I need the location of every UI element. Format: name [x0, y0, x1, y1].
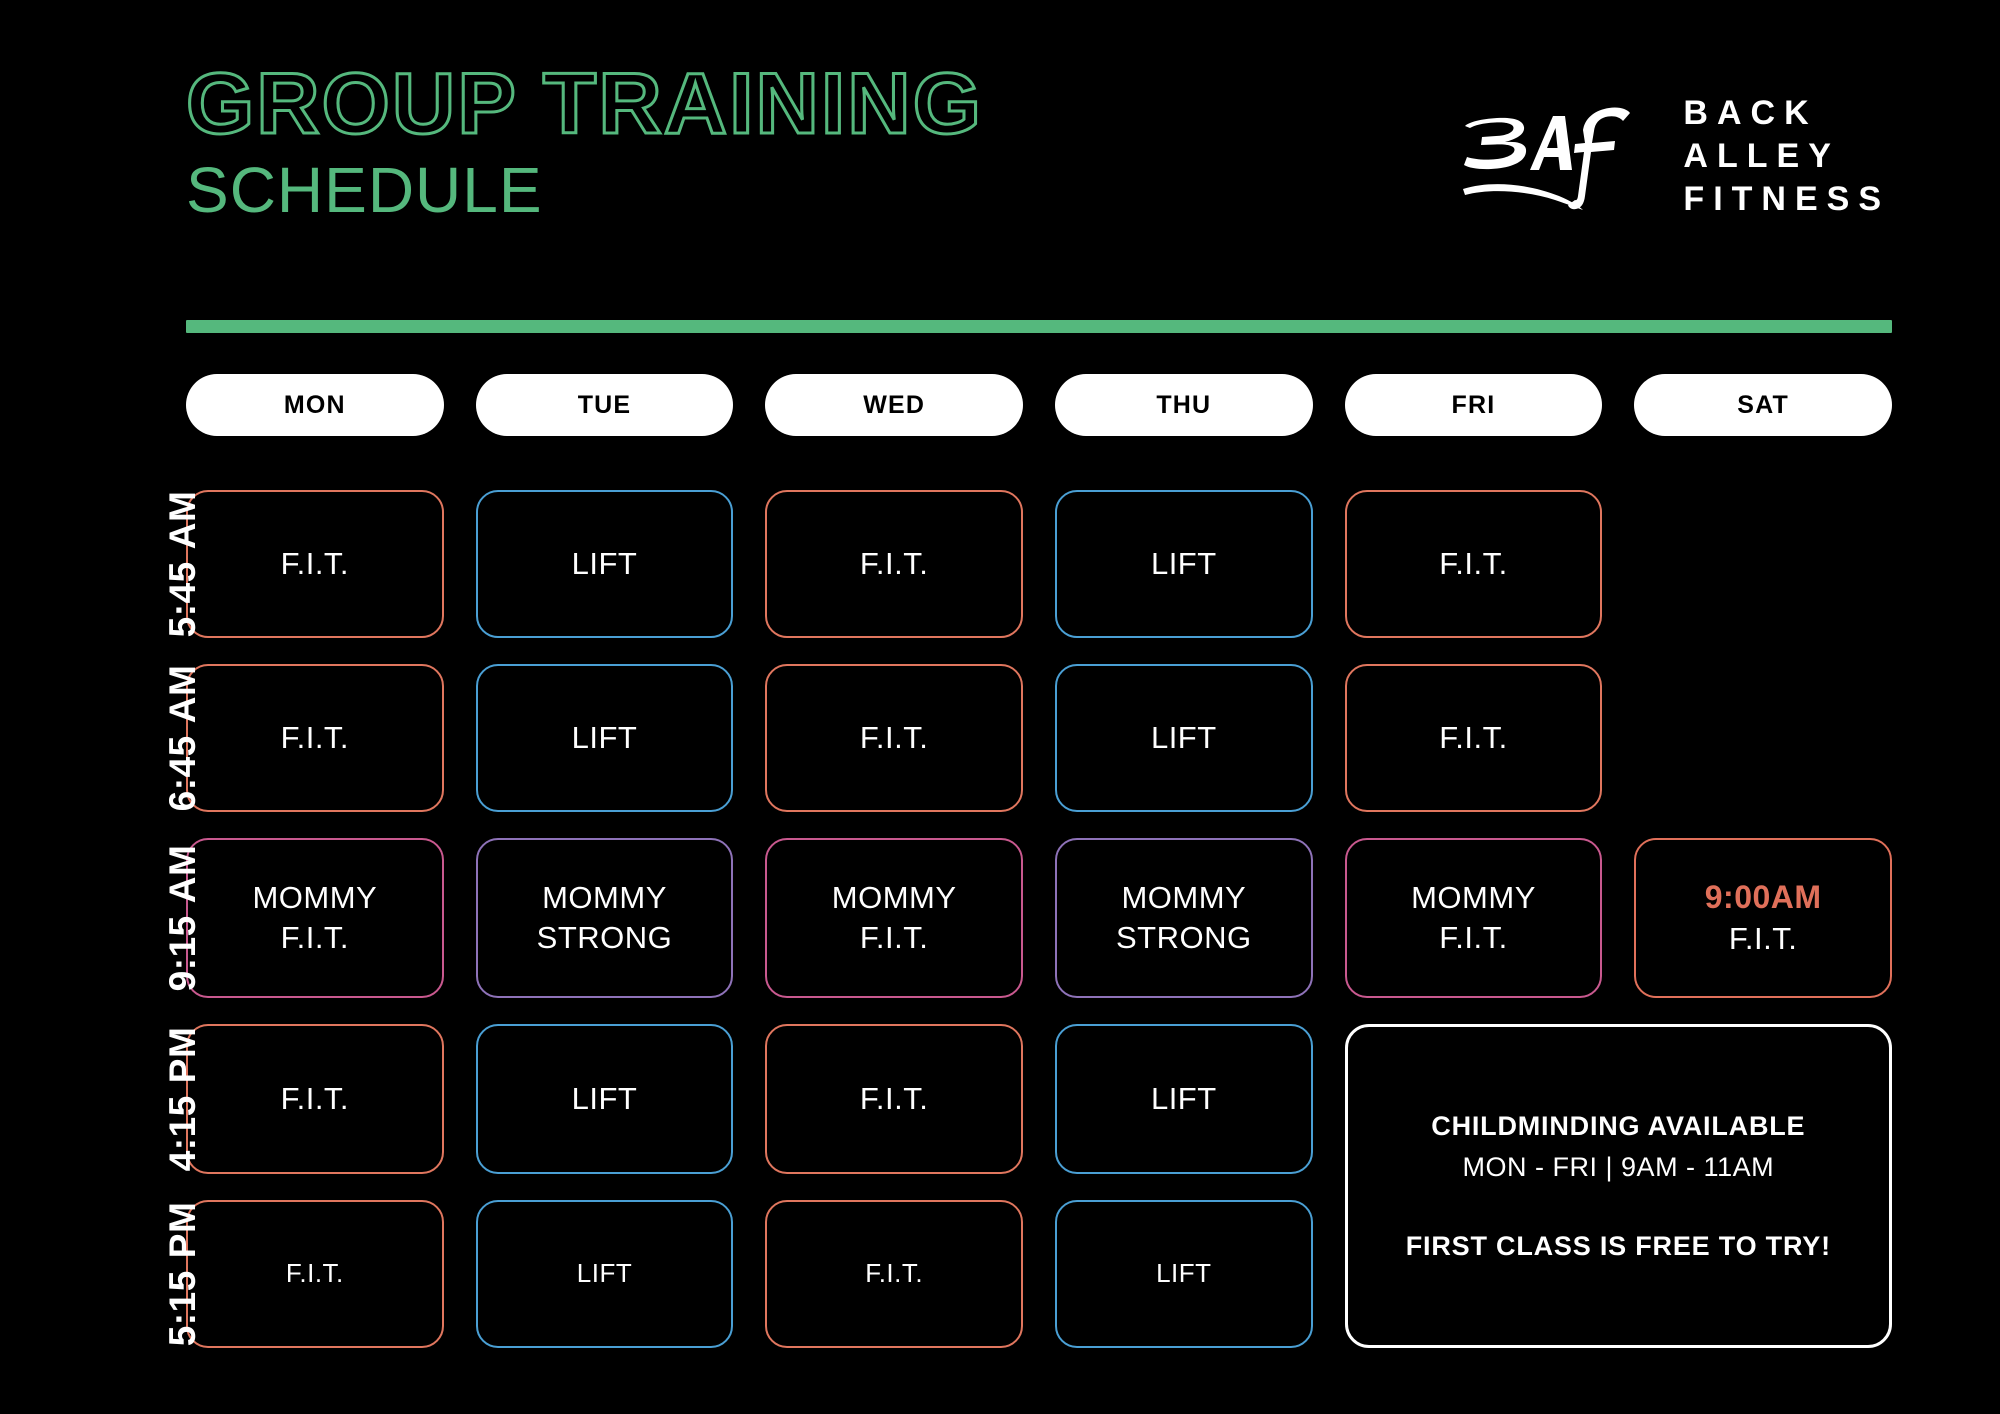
- schedule-row-0: F.I.T.LIFTF.I.T.LIFTF.I.T.: [186, 490, 1892, 638]
- page-subtitle: SCHEDULE: [186, 158, 967, 222]
- childminding-heading: CHILDMINDING AVAILABLE: [1431, 1111, 1805, 1142]
- day-header-wed[interactable]: WED: [765, 374, 1023, 436]
- class-card-lift[interactable]: LIFT: [476, 1024, 734, 1174]
- class-label-line1: F.I.T.: [860, 1079, 928, 1119]
- time-label-3: 4:15PM: [108, 1024, 258, 1174]
- class-label-line1: LIFT: [577, 1257, 632, 1291]
- brand-line-3: FITNESS: [1683, 182, 1890, 216]
- time-period: PM: [163, 1027, 202, 1084]
- class-card-lift[interactable]: LIFT: [476, 1200, 734, 1348]
- childminding-hours: MON - FRI | 9AM - 11AM: [1463, 1152, 1775, 1183]
- time-label-4: 5:15PM: [109, 1199, 257, 1349]
- time-value: 5:45: [163, 561, 202, 637]
- schedule-grid: MONTUEWEDTHUFRISAT F.I.T.LIFTF.I.T.LIFTF…: [186, 374, 1892, 1348]
- first-class-free-note: FIRST CLASS IS FREE TO TRY!: [1406, 1231, 1831, 1262]
- baf-brush-logo-icon: [1455, 96, 1655, 216]
- class-card-sat_fit[interactable]: 9:00AMF.I.T.: [1634, 838, 1892, 998]
- time-value: 5:15: [163, 1270, 202, 1346]
- class-label-line1: MOMMY: [542, 878, 667, 918]
- class-label-line1: F.I.T.: [286, 1257, 344, 1291]
- accent-divider: [186, 320, 1892, 333]
- class-card-empty: [1634, 490, 1892, 638]
- schedule-body: F.I.T.LIFTF.I.T.LIFTF.I.T.F.I.T.LIFTF.I.…: [186, 490, 1892, 1348]
- class-label-line1: F.I.T.: [860, 544, 928, 584]
- day-header-row: MONTUEWEDTHUFRISAT: [186, 374, 1892, 436]
- time-label-0: 5:45AM: [109, 489, 257, 639]
- brand-logo: BACK ALLEY FITNESS: [1455, 96, 1890, 216]
- class-card-fit[interactable]: F.I.T.: [765, 1024, 1023, 1174]
- class-label-line1: F.I.T.: [281, 544, 349, 584]
- class-label-line2: F.I.T.: [281, 918, 349, 958]
- title-block: GROUP TRAINING SCHEDULE: [186, 62, 967, 222]
- class-label-line1: LIFT: [572, 1079, 638, 1119]
- class-time-highlight: 9:00AM: [1705, 877, 1822, 919]
- class-card-fit[interactable]: F.I.T.: [765, 490, 1023, 638]
- brand-line-2: ALLEY: [1683, 139, 1890, 173]
- class-label-line2: F.I.T.: [1439, 918, 1507, 958]
- class-label-line1: F.I.T.: [865, 1257, 923, 1291]
- class-label-line1: LIFT: [1151, 544, 1217, 584]
- class-label-line1: F.I.T.: [1439, 544, 1507, 584]
- day-header-thu[interactable]: THU: [1055, 374, 1313, 436]
- class-card-lift[interactable]: LIFT: [1055, 664, 1313, 812]
- class-card-fit[interactable]: F.I.T.: [1345, 490, 1603, 638]
- time-value: 9:15: [163, 915, 202, 991]
- time-period: AM: [163, 491, 202, 550]
- class-card-lift[interactable]: LIFT: [1055, 1024, 1313, 1174]
- time-value: 6:45: [163, 735, 202, 811]
- class-label-line1: MOMMY: [832, 878, 957, 918]
- class-label-line1: F.I.T.: [281, 718, 349, 758]
- class-label-line2: STRONG: [537, 918, 673, 958]
- class-card-fit[interactable]: F.I.T.: [765, 664, 1023, 812]
- day-header-tue[interactable]: TUE: [476, 374, 734, 436]
- time-period: AM: [163, 665, 202, 724]
- class-card-mommy_fit[interactable]: MOMMYF.I.T.: [1345, 838, 1603, 998]
- class-card-mommy_strong[interactable]: MOMMYSTRONG: [476, 838, 734, 998]
- class-card-fit[interactable]: F.I.T.: [1345, 664, 1603, 812]
- class-label-line1: F.I.T.: [1439, 718, 1507, 758]
- time-period: PM: [163, 1202, 202, 1259]
- class-label-line1: F.I.T.: [281, 1079, 349, 1119]
- day-header-fri[interactable]: FRI: [1345, 374, 1603, 436]
- day-header-mon[interactable]: MON: [186, 374, 444, 436]
- brand-wordmark: BACK ALLEY FITNESS: [1683, 96, 1890, 216]
- page-header: GROUP TRAINING SCHEDULE BACK ALLEY FITNE…: [0, 0, 2000, 300]
- childminding-info-box: CHILDMINDING AVAILABLEMON - FRI | 9AM - …: [1345, 1024, 1892, 1348]
- page-title: GROUP TRAINING: [186, 62, 983, 146]
- class-label-line2: F.I.T.: [860, 918, 928, 958]
- time-label-2: 9:15AM: [103, 843, 263, 993]
- class-card-mommy_fit[interactable]: MOMMYF.I.T.: [765, 838, 1023, 998]
- time-period: AM: [163, 845, 202, 904]
- class-label-line1: F.I.T.: [860, 718, 928, 758]
- class-card-fit[interactable]: F.I.T.: [765, 1200, 1023, 1348]
- class-card-lift[interactable]: LIFT: [476, 664, 734, 812]
- class-label-line1: LIFT: [572, 718, 638, 758]
- class-card-lift[interactable]: LIFT: [1055, 490, 1313, 638]
- day-header-sat[interactable]: SAT: [1634, 374, 1892, 436]
- class-label-line2: F.I.T.: [1729, 919, 1797, 959]
- class-card-empty: [1634, 664, 1892, 812]
- class-label-line1: LIFT: [572, 544, 638, 584]
- time-value: 4:15: [163, 1095, 202, 1171]
- class-label-line1: LIFT: [1151, 1079, 1217, 1119]
- class-label-line1: LIFT: [1151, 718, 1217, 758]
- class-card-lift[interactable]: LIFT: [476, 490, 734, 638]
- class-label-line2: STRONG: [1116, 918, 1252, 958]
- brand-line-1: BACK: [1683, 96, 1890, 130]
- class-card-mommy_strong[interactable]: MOMMYSTRONG: [1055, 838, 1313, 998]
- class-label-line1: MOMMY: [1411, 878, 1536, 918]
- class-label-line1: LIFT: [1156, 1257, 1211, 1291]
- class-label-line1: MOMMY: [252, 878, 377, 918]
- schedule-row-1: F.I.T.LIFTF.I.T.LIFTF.I.T.: [186, 664, 1892, 812]
- class-label-line1: MOMMY: [1121, 878, 1246, 918]
- time-label-1: 6:45AM: [109, 663, 257, 813]
- class-card-lift[interactable]: LIFT: [1055, 1200, 1313, 1348]
- schedule-row-2: MOMMYF.I.T.MOMMYSTRONGMOMMYF.I.T.MOMMYST…: [186, 838, 1892, 998]
